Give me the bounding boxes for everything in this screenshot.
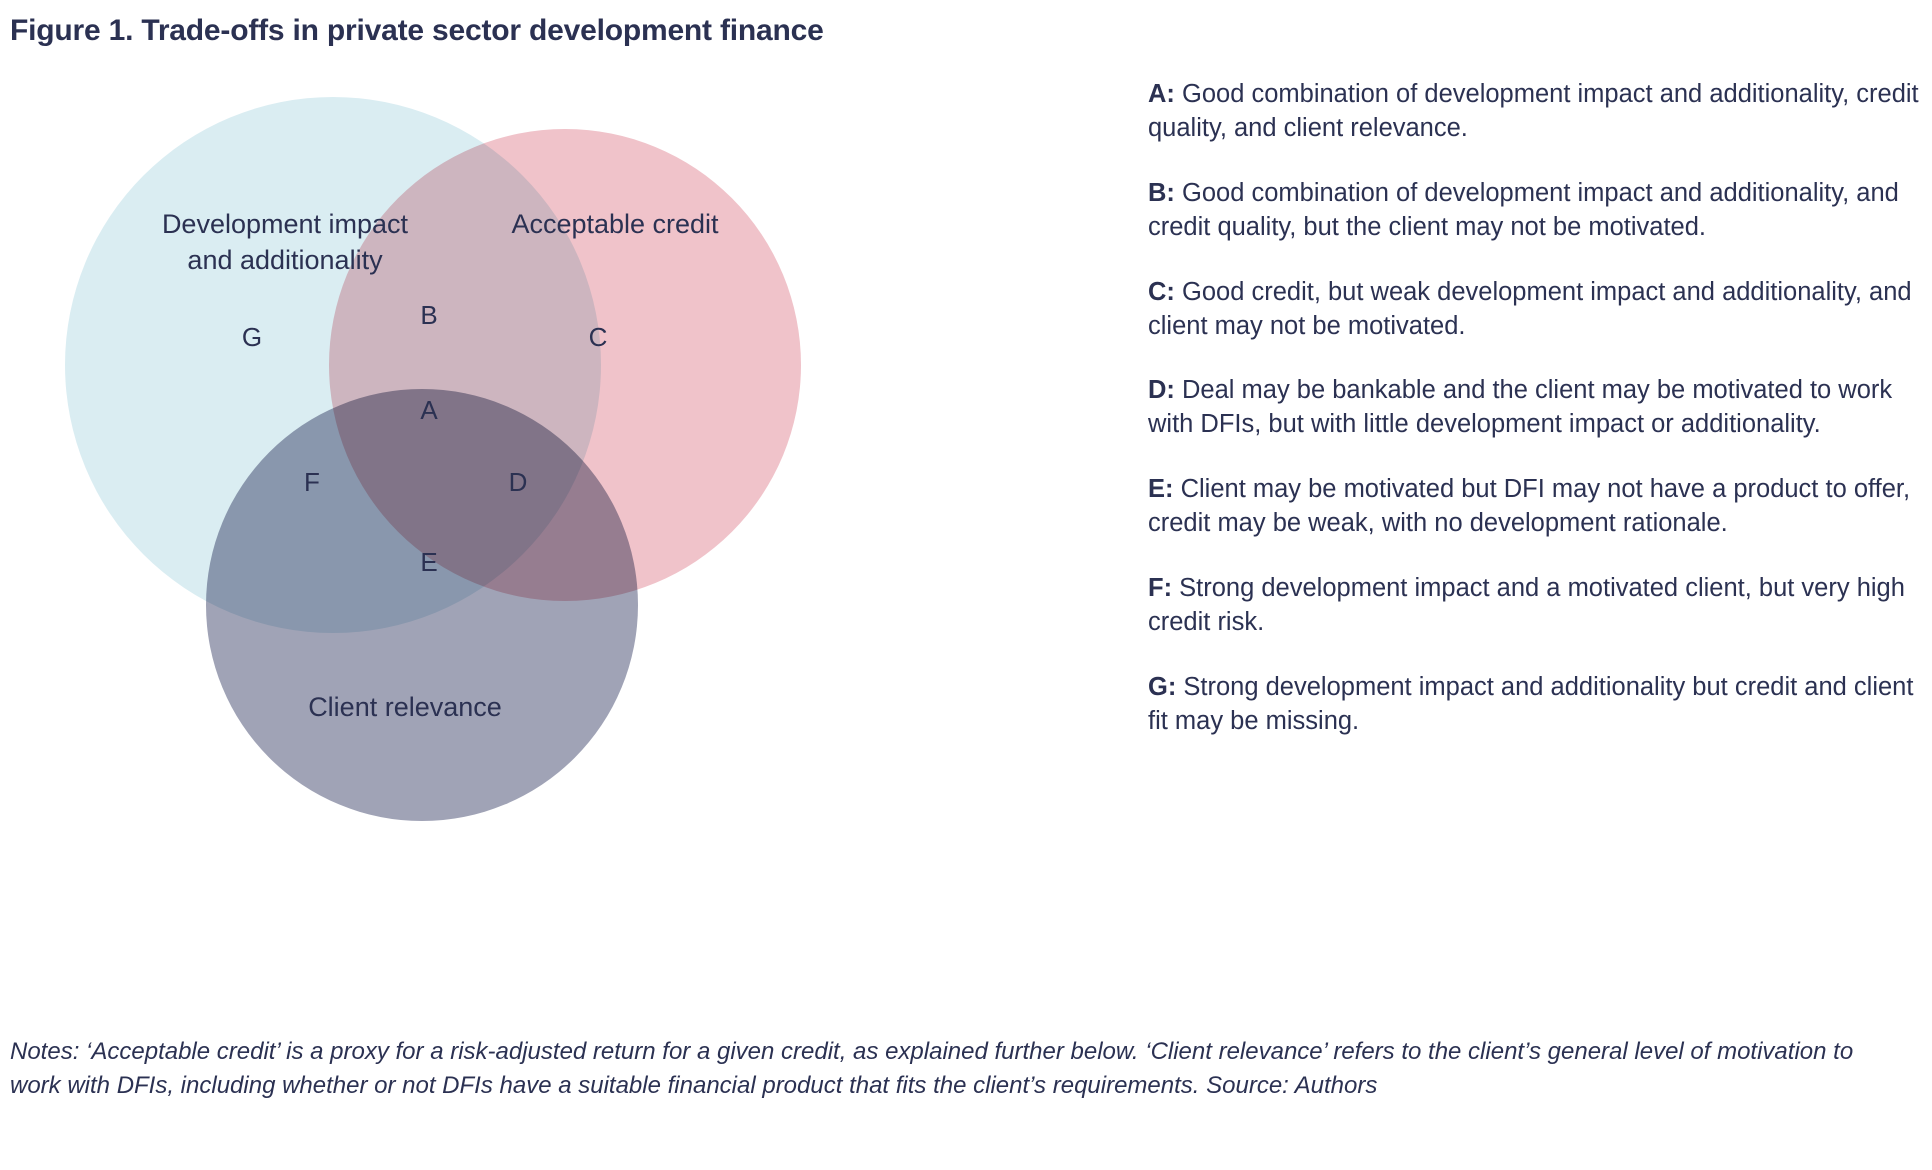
legend-text: Client may be motivated but DFI may not … xyxy=(1148,475,1910,537)
legend-text: Good credit, but weak development impact… xyxy=(1148,278,1912,340)
legend-item: A: Good combination of development impac… xyxy=(1148,78,1920,146)
legend-key: D: xyxy=(1148,376,1175,404)
legend-list: A: Good combination of development impac… xyxy=(1148,78,1920,739)
legend-text: Deal may be bankable and the client may … xyxy=(1148,376,1892,438)
legend-item: G: Strong development impact and additio… xyxy=(1148,671,1920,739)
legend-item: F: Strong development impact and a motiv… xyxy=(1148,572,1920,640)
legend-key: F: xyxy=(1148,574,1172,602)
legend-key: G: xyxy=(1148,673,1176,701)
legend-text: Strong development impact and a motivate… xyxy=(1148,574,1905,636)
figure-notes: Notes: ‘Acceptable credit’ is a proxy fo… xyxy=(10,1035,1910,1103)
legend-item: B: Good combination of development impac… xyxy=(1148,177,1920,245)
venn-diagram: Development impact and additionality Acc… xyxy=(0,95,900,835)
legend-text: Strong development impact and additional… xyxy=(1148,673,1913,735)
page-title: Figure 1. Trade-offs in private sector d… xyxy=(10,14,824,48)
legend-key: E: xyxy=(1148,475,1174,503)
legend-text: Good combination of development impact a… xyxy=(1148,80,1919,142)
venn-circle-client xyxy=(206,389,638,821)
legend-key: C: xyxy=(1148,278,1175,306)
venn-svg xyxy=(0,95,900,835)
legend-item: C: Good credit, but weak development imp… xyxy=(1148,276,1920,344)
legend-key: B: xyxy=(1148,179,1175,207)
legend-text: Good combination of development impact a… xyxy=(1148,179,1899,241)
figure-page: Figure 1. Trade-offs in private sector d… xyxy=(0,0,1932,1170)
legend-key: A: xyxy=(1148,80,1175,108)
legend-item: D: Deal may be bankable and the client m… xyxy=(1148,374,1920,442)
legend-item: E: Client may be motivated but DFI may n… xyxy=(1148,473,1920,541)
